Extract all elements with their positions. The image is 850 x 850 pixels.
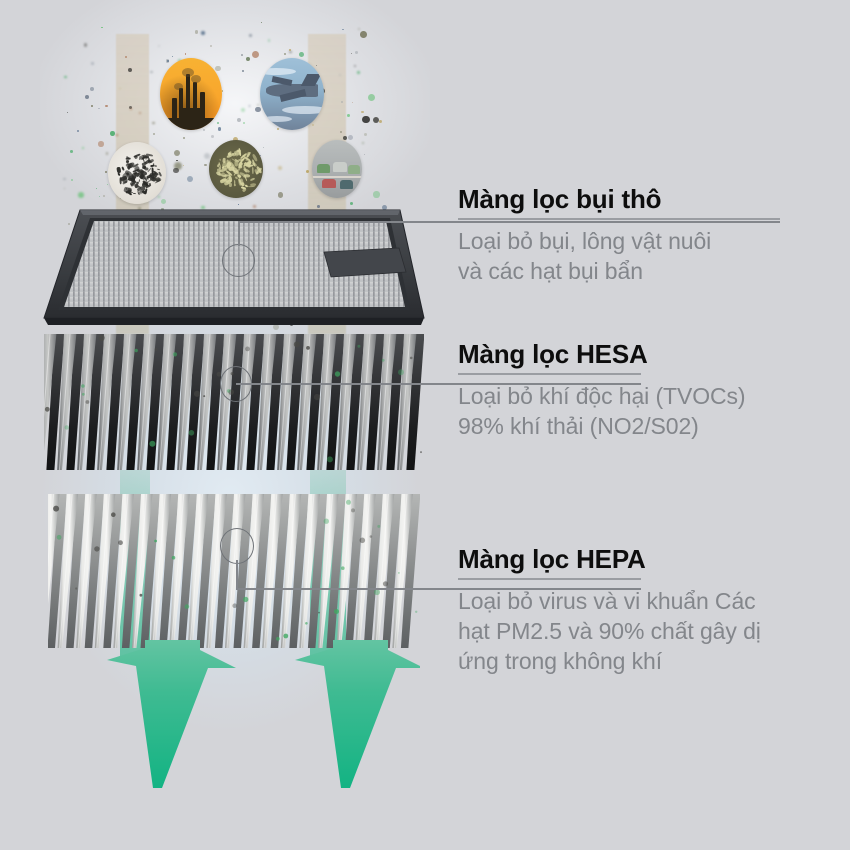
trapped-particle: [346, 500, 351, 505]
pleat-valley: [308, 494, 328, 648]
pleat-valley: [346, 334, 364, 470]
pleat-crease: [79, 334, 90, 470]
trapped-particle: [335, 371, 340, 376]
pleat-crease: [227, 494, 240, 648]
pleat-crease: [153, 494, 166, 648]
pleat-crease: [259, 334, 270, 470]
particle-dot: [153, 133, 156, 136]
callout-block-hepa: Màng lọc HEPA Loại bỏ virus và vi khuẩn …: [458, 545, 838, 677]
pleat-crease: [97, 494, 110, 648]
particle-dot: [284, 53, 287, 56]
pleat-valley: [141, 494, 161, 648]
trapped-particle: [94, 546, 99, 551]
pleat-crease: [264, 494, 277, 648]
trapped-particle: [245, 347, 250, 352]
trapped-particle: [81, 384, 85, 388]
trapped-particle: [172, 556, 176, 560]
particle-dot: [237, 118, 241, 122]
pleat-crease: [60, 494, 73, 648]
pleat-crease: [339, 334, 350, 470]
pleat-crease: [48, 494, 54, 648]
callout-line: và các hạt bụi bẩn: [458, 258, 643, 284]
pleat-face: [277, 334, 296, 470]
particle-dot: [347, 114, 350, 117]
particle-dot: [289, 51, 292, 54]
callout-block-prefilter: Màng lọc bụi thô Loại bỏ bụi, lông vật n…: [458, 185, 838, 287]
pleat-face: [374, 494, 395, 648]
pleat-crease: [115, 494, 128, 648]
diagram-canvas: Màng lọc bụi thô Loại bỏ bụi, lông vật n…: [0, 0, 850, 850]
particle-dot: [85, 95, 89, 99]
trapped-particle: [45, 407, 50, 412]
pleat-crease: [99, 334, 110, 470]
particle-dot: [173, 168, 178, 173]
pleat-valley: [122, 494, 141, 648]
trapped-particle: [415, 611, 417, 613]
trapped-particle: [318, 612, 320, 614]
particle-dot: [249, 34, 251, 36]
trapped-particle: [154, 540, 157, 543]
airflow-beam-left: [120, 470, 150, 660]
trapped-particle: [341, 566, 345, 570]
particle-dot: [241, 54, 243, 56]
pleat-crease: [246, 494, 259, 648]
callout-line: ứng trong không khí: [458, 648, 662, 674]
particle-dot: [243, 122, 245, 124]
pollution-source-airplane: [260, 58, 324, 130]
pleat-valley: [364, 494, 384, 648]
trapped-particle: [111, 512, 116, 517]
pleat-valley: [306, 334, 324, 470]
particle-dot: [211, 135, 214, 138]
particle-dot: [96, 188, 97, 189]
callout-line: hạt PM2.5 và 90% chất gây dị: [458, 618, 761, 644]
pleat-crease: [299, 334, 310, 470]
trapped-particle: [377, 525, 380, 528]
pleat-face: [237, 334, 256, 470]
trapped-particle: [82, 393, 85, 396]
pleat-valley: [85, 494, 105, 648]
particle-dot: [249, 105, 251, 107]
particle-dot: [129, 106, 132, 109]
particle-dot: [252, 51, 259, 58]
callout-leader-hepa-vertical: [236, 560, 238, 589]
particle-dot: [364, 133, 367, 136]
pleat-face: [281, 494, 302, 648]
pleat-valley: [271, 494, 291, 648]
particle-dot: [174, 162, 182, 170]
callout-ring-prefilter: [222, 244, 255, 277]
particle-dot: [152, 122, 155, 125]
trapped-particle: [194, 391, 200, 397]
pleat-crease: [301, 494, 314, 648]
pleat-crease: [283, 494, 296, 648]
callout-leader-prefilter-vertical: [238, 222, 240, 246]
particle-dot: [98, 108, 99, 109]
particle-dot: [358, 28, 360, 30]
mold-spores-icon: [209, 140, 263, 198]
particle-dot: [261, 22, 262, 23]
particle-dot: [268, 39, 271, 42]
pleat-crease: [44, 334, 50, 470]
trapped-particle: [305, 622, 308, 625]
particle-dot: [351, 53, 352, 54]
pleat-valley: [146, 334, 164, 470]
pleat-face: [132, 494, 153, 648]
particle-dot: [364, 154, 365, 155]
pleat-valley: [166, 334, 184, 470]
pleat-crease: [171, 494, 184, 648]
trapped-particle: [374, 589, 380, 595]
pleat-face: [77, 334, 96, 470]
particle-dot: [176, 160, 178, 162]
particle-dot: [357, 71, 360, 74]
particle-dot: [362, 116, 370, 124]
callout-line: Loại bỏ khí độc hại (TVOCs): [458, 383, 745, 409]
pleat-valley: [266, 334, 284, 470]
pleat-crease: [320, 494, 333, 648]
pleat-valley: [196, 494, 216, 648]
particle-dot: [119, 88, 121, 90]
callout-ring-hepa: [220, 528, 254, 564]
pleat-crease: [59, 334, 70, 470]
trapped-particle: [118, 540, 123, 545]
pleat-face: [177, 334, 196, 470]
pleat-crease: [208, 494, 221, 648]
particle-dot: [341, 101, 343, 103]
particle-dot: [242, 70, 244, 72]
trapped-particle: [357, 345, 360, 348]
trapped-particle: [314, 394, 320, 400]
particle-dot: [339, 74, 341, 76]
pleat-valley: [345, 494, 365, 648]
pleat-face: [337, 334, 356, 470]
particle-dot: [105, 171, 107, 173]
particle-dot: [90, 87, 94, 91]
callout-line: Loại bỏ bụi, lông vật nuôi: [458, 228, 711, 254]
pleat-face: [317, 334, 336, 470]
particle-dot: [105, 105, 108, 108]
pleat-crease: [357, 494, 370, 648]
pleat-crease: [159, 334, 170, 470]
trapped-particle: [243, 597, 248, 602]
particle-dot: [362, 142, 364, 144]
particle-dot: [110, 131, 115, 136]
filter-layer-hepa: [48, 492, 420, 660]
pleat-face: [151, 494, 172, 648]
particle-dot: [361, 111, 363, 113]
pleat-valley: [46, 334, 64, 470]
pleat-face: [169, 494, 190, 648]
callout-line: Loại bỏ virus và vi khuẩn Các: [458, 588, 756, 614]
pleat-face: [262, 494, 283, 648]
pleat-valley: [246, 334, 264, 470]
pleat-face: [377, 334, 396, 470]
particle-dot: [150, 71, 153, 74]
pleat-face: [58, 494, 79, 648]
particle-dot: [101, 27, 103, 29]
pleat-face: [397, 334, 416, 470]
pollution-source-mold: [209, 140, 263, 198]
pleat-face: [318, 494, 339, 648]
particle-dot: [158, 45, 160, 47]
callout-description-prefilter: Loại bỏ bụi, lông vật nuôi và các hạt bụ…: [458, 227, 838, 287]
pleat-face: [157, 334, 176, 470]
particle-dot: [354, 65, 356, 67]
callout-heading-hesa: Màng lọc HESA: [458, 340, 838, 369]
spore-fleck: [250, 177, 255, 181]
trapped-particle: [324, 519, 329, 524]
pleat-crease: [190, 494, 203, 648]
pleat-crease: [219, 334, 230, 470]
pleat-valley: [86, 334, 104, 470]
pleat-valley: [226, 334, 244, 470]
particle-dot: [67, 112, 68, 113]
particle-dot: [64, 76, 66, 78]
particle-dot: [130, 108, 132, 110]
pleat-face: [392, 494, 413, 648]
pleat-face: [257, 334, 276, 470]
particle-dot: [116, 134, 118, 136]
particle-dot: [98, 141, 104, 147]
trapped-particle: [306, 346, 310, 350]
trapped-particle: [232, 603, 237, 608]
trapped-particle: [149, 441, 155, 447]
arrow-left-shape: [107, 640, 236, 788]
pollution-source-factory: [160, 58, 222, 130]
particle-dot: [360, 31, 367, 38]
spore-fleck: [219, 159, 221, 161]
particle-dot: [174, 150, 180, 156]
pleat-crease: [179, 334, 190, 470]
particle-dot: [70, 150, 73, 153]
pleat-face: [97, 334, 116, 470]
pleat-valley: [252, 494, 272, 648]
pleat-valley: [66, 494, 86, 648]
pleat-crease: [199, 334, 210, 470]
particle-dot: [128, 68, 132, 72]
trapped-particle: [410, 357, 413, 360]
trapped-particle: [327, 456, 333, 462]
pleat-valley: [401, 494, 420, 648]
traffic-cars-icon: [312, 140, 362, 198]
soot-fleck: [131, 177, 135, 182]
pleat-valley: [103, 494, 123, 648]
spore-fleck: [238, 148, 241, 156]
pleat-face: [357, 334, 376, 470]
pleat-face: [48, 494, 60, 648]
arrow-right-shape: [295, 640, 420, 788]
pleat-face: [197, 334, 216, 470]
particle-dot: [84, 43, 88, 47]
pleat-valley: [327, 494, 347, 648]
airplane-icon: [260, 58, 324, 130]
particle-dot: [183, 165, 185, 167]
soot-fleck: [144, 167, 148, 170]
pleat-valley: [206, 334, 224, 470]
particle-dot: [340, 131, 342, 133]
pleat-crease: [119, 334, 130, 470]
particle-dot: [63, 178, 66, 181]
trapped-particle: [155, 348, 158, 351]
pleat-face: [206, 494, 227, 648]
particle-dot: [195, 30, 199, 34]
callout-rule-hesa: [458, 373, 641, 375]
pleat-valley: [366, 334, 384, 470]
pleat-valley: [159, 494, 179, 648]
pleat-face: [117, 334, 136, 470]
particle-dot: [71, 179, 73, 181]
particle-dot: [368, 94, 375, 101]
callout-block-hesa: Màng lọc HESA Loại bỏ khí độc hại (TVOCs…: [458, 340, 838, 442]
pleat-face: [188, 494, 209, 648]
trapped-particle: [383, 581, 388, 586]
pleat-valley: [289, 494, 309, 648]
particle-dot: [373, 117, 379, 123]
trapped-particle: [351, 508, 355, 512]
pollution-source-dust: [108, 142, 166, 204]
particle-dot: [241, 108, 245, 112]
particle-dot: [306, 170, 309, 173]
pleat-valley: [66, 334, 84, 470]
factory-smokestack-icon: [160, 58, 222, 130]
trapped-particle: [173, 352, 177, 356]
trapped-particle: [86, 400, 90, 404]
particle-dot: [125, 56, 127, 58]
soot-fleck: [139, 179, 141, 182]
pleat-crease: [376, 494, 389, 648]
pleat-crease: [379, 334, 390, 470]
pleat-face: [355, 494, 376, 648]
callout-rule-prefilter: [458, 218, 780, 220]
pleat-crease: [399, 334, 410, 470]
pleat-crease: [394, 494, 407, 648]
particle-dot: [183, 137, 185, 139]
particle-dot: [91, 105, 92, 106]
pleat-face: [297, 334, 316, 470]
pleat-crease: [279, 334, 290, 470]
pleat-crease: [134, 494, 147, 648]
trapped-particle: [334, 609, 339, 614]
particle-dot: [172, 56, 174, 58]
soot-fleck: [135, 183, 140, 188]
pleat-valley: [215, 494, 235, 648]
particle-dot: [278, 166, 282, 170]
pleat-face: [244, 494, 265, 648]
pleat-face: [95, 494, 116, 648]
trapped-particle: [370, 535, 373, 538]
soot-fleck: [117, 173, 120, 176]
trapped-particle: [398, 369, 404, 375]
pollution-source-traffic: [312, 140, 362, 198]
airflow-beam-right: [310, 470, 346, 660]
pleat-crease: [239, 334, 250, 470]
trapped-particle: [283, 634, 288, 639]
callout-line: 98% khí thải (NO2/S02): [458, 413, 699, 439]
soot-fleck: [157, 168, 160, 170]
callout-rule-hepa: [458, 578, 641, 580]
particle-dot: [201, 31, 205, 35]
particle-dot: [289, 49, 291, 51]
trapped-particle: [360, 538, 366, 544]
callout-description-hepa: Loại bỏ virus và vi khuẩn Các hạt PM2.5 …: [458, 587, 838, 677]
pleat-face: [44, 334, 56, 470]
trapped-particle: [140, 594, 143, 597]
pleat-face: [217, 334, 236, 470]
soot-fleck: [125, 160, 128, 163]
trapped-particle: [294, 341, 300, 347]
particle-dot: [379, 120, 382, 123]
dust-particles-icon: [108, 142, 166, 204]
particle-dot: [64, 188, 65, 189]
callout-description-hesa: Loại bỏ khí độc hại (TVOCs) 98% khí thải…: [458, 382, 838, 442]
pleat-face: [76, 494, 97, 648]
pleat-crease: [339, 494, 352, 648]
pleat-valley: [286, 334, 304, 470]
pleat-face: [57, 334, 76, 470]
spore-fleck: [247, 185, 255, 186]
spore-fleck: [219, 162, 222, 168]
pleat-crease: [359, 334, 370, 470]
pleat-crease: [78, 494, 91, 648]
particle-dot: [139, 112, 141, 114]
trapped-particle: [382, 359, 385, 362]
trapped-particle: [65, 425, 69, 429]
pleat-face: [113, 494, 133, 648]
callout-heading-hepa: Màng lọc HEPA: [458, 545, 838, 574]
trapped-particle: [203, 395, 205, 397]
pleat-face: [137, 334, 156, 470]
filter-layer-hesa: [44, 330, 424, 478]
pleat-valley: [106, 334, 124, 470]
trapped-particle: [57, 535, 62, 540]
particle-dot: [187, 176, 193, 182]
trapped-particle: [135, 349, 138, 352]
particle-dot: [185, 53, 187, 55]
pleat-valley: [382, 494, 402, 648]
airflow-output-arrows: [50, 640, 420, 850]
trapped-particle: [420, 451, 422, 453]
particle-dot: [352, 102, 353, 103]
trapped-particle: [53, 506, 59, 512]
particle-dot: [82, 147, 84, 149]
pleat-valley: [126, 334, 144, 470]
particle-dot: [257, 104, 258, 105]
trapped-particle: [189, 430, 195, 436]
particle-dot: [246, 57, 251, 62]
callout-heading-prefilter: Màng lọc bụi thô: [458, 185, 838, 214]
soot-fleck: [122, 167, 125, 171]
pleat-face: [299, 494, 320, 648]
trapped-particle: [398, 572, 400, 574]
trapped-particle: [185, 604, 190, 609]
pleat-crease: [319, 334, 330, 470]
particle-dot: [355, 51, 358, 54]
pleat-valley: [186, 334, 204, 470]
particle-dot: [210, 45, 212, 47]
pleat-valley: [386, 334, 404, 470]
trapped-particle: [75, 587, 77, 589]
particle-dot: [299, 52, 304, 57]
particle-dot: [204, 164, 206, 166]
particle-dot: [342, 29, 344, 31]
pleat-valley: [406, 334, 424, 470]
particle-dot: [77, 130, 79, 132]
particle-dot: [91, 62, 94, 65]
pleat-face: [337, 494, 358, 648]
pleat-valley: [326, 334, 344, 470]
soot-fleck: [133, 192, 136, 193]
